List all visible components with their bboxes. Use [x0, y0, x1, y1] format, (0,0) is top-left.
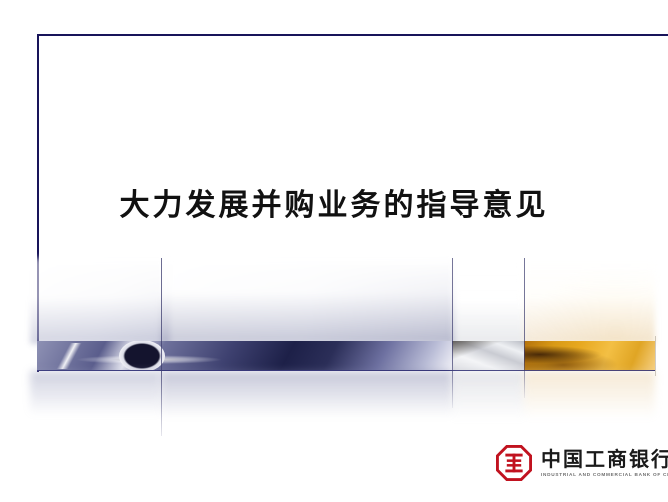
montage-wash-center — [160, 258, 455, 344]
icbc-name-cn: 中国工商银行 — [541, 449, 668, 470]
montage-fade-gold — [524, 371, 655, 431]
icbc-logo-wordmark: 中国工商银行 INDUSTRIAL AND COMMERCIAL BANK OF… — [541, 449, 668, 477]
lens-ring — [119, 341, 165, 371]
montage-fade-left — [30, 371, 160, 431]
light-streak — [43, 343, 101, 369]
frame-top-line — [37, 34, 668, 36]
title-block: 大力发展并购业务的指导意见 — [0, 188, 668, 224]
gold-fire-panel — [524, 341, 655, 371]
montage-fade-center — [161, 371, 452, 431]
montage-gridline-4 — [655, 336, 656, 376]
page-title: 大力发展并购业务的指导意见 — [120, 188, 549, 224]
presentation-slide: 大力发展并购业务的指导意见 — [0, 0, 668, 502]
icbc-emblem-icon — [496, 445, 532, 481]
montage-wash-left — [30, 258, 170, 344]
icbc-name-en: INDUSTRIAL AND COMMERCIAL BANK OF CHINA — [541, 472, 668, 477]
montage-gridline-3 — [524, 258, 525, 398]
montage-gridline-1 — [161, 258, 162, 436]
stone-panel — [452, 341, 524, 371]
montage-gridline-2 — [452, 258, 453, 408]
photo-montage-band — [0, 258, 668, 438]
montage-fade-stone — [452, 371, 524, 431]
montage-wash-gold — [524, 258, 655, 344]
icbc-logo: 中国工商银行 INDUSTRIAL AND COMMERCIAL BANK OF… — [496, 445, 668, 481]
montage-wash-stone — [452, 258, 524, 344]
blue-lens-panel — [37, 341, 452, 371]
